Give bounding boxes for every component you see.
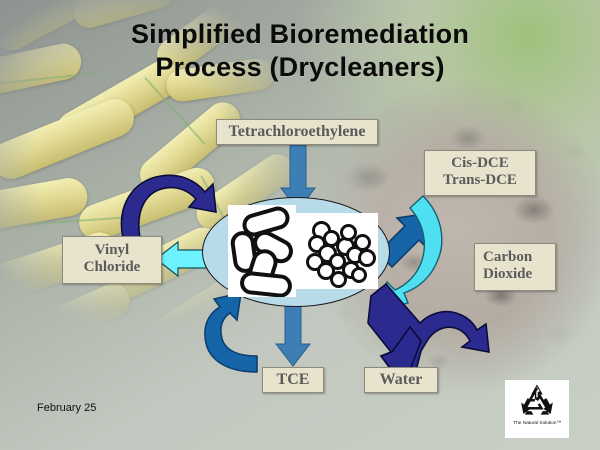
label-cis-trans-dce[interactable]: Cis-DCE Trans-DCE: [424, 150, 536, 196]
label-tetrachloroethylene[interactable]: Tetrachloroethylene: [216, 119, 378, 145]
label-tce[interactable]: TCE: [262, 367, 324, 393]
natural-solution-logo: The Natural Solution™: [505, 380, 569, 438]
slide-canvas: Simplified Bioremediation Process (Drycl…: [0, 0, 600, 450]
label-carbon-dioxide[interactable]: Carbon Dioxide: [474, 243, 556, 291]
recycle-icon: [517, 383, 557, 419]
logo-caption: The Natural Solution™: [513, 420, 561, 426]
arrow-vinyl-chloride-to-microbes: [121, 175, 216, 238]
rod-bacteria-panel: [228, 205, 296, 297]
arrow-tce-to-microbes: [205, 293, 257, 372]
label-water[interactable]: Water: [364, 367, 438, 393]
coccus-bacteria-panel: [296, 213, 378, 289]
arrow-microbes-to-tce: [276, 300, 310, 366]
label-vinyl-chloride[interactable]: Vinyl Chloride: [62, 236, 162, 284]
